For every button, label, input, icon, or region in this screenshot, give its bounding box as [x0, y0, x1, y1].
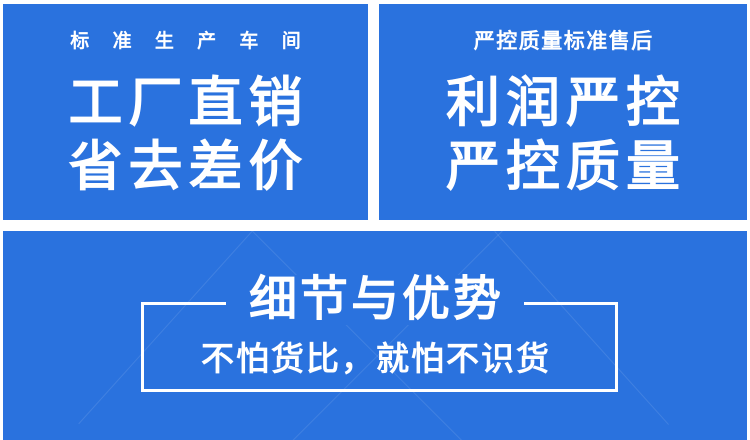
bottom-panel-subtitle: 不怕货比，就怕不识货 — [3, 342, 747, 375]
panel-quality-control: 严控质量标准售后 利润严控 严控质量 — [379, 4, 747, 220]
panel-left-headline-line1: 工厂直销 — [3, 76, 368, 130]
panel-details-advantages: 细节与优势 不怕货比，就怕不识货 — [3, 231, 747, 440]
promo-banner: 标 准 生 产 车 间 工厂直销 省去差价 严控质量标准售后 利润严控 严控质量… — [0, 0, 750, 440]
panel-left-headline-line2: 省去差价 — [3, 140, 368, 194]
bottom-title-container: 细节与优势 — [3, 275, 747, 325]
panel-right-eyebrow: 严控质量标准售后 — [379, 31, 747, 52]
panel-left-eyebrow: 标 准 生 产 车 间 — [3, 32, 368, 51]
bottom-panel-title: 细节与优势 — [226, 275, 524, 325]
panel-right-headline-line2: 严控质量 — [379, 140, 747, 194]
panel-right-headline-line1: 利润严控 — [379, 76, 747, 130]
panel-factory-direct: 标 准 生 产 车 间 工厂直销 省去差价 — [3, 4, 368, 220]
